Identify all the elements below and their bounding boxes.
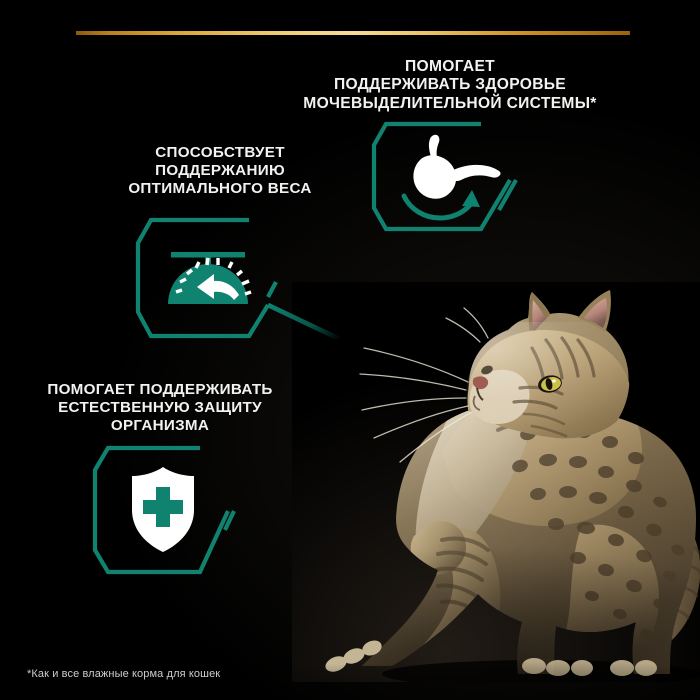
- bladder-urinary-icon: [404, 135, 501, 218]
- shield-cross-icon: [132, 467, 194, 552]
- weight-scale-gauge-icon: [168, 252, 251, 304]
- benefit-hex-urinary[interactable]: [374, 124, 516, 300]
- benefit-text-weight: СПОСОБСТВУЕТ ПОДДЕРЖАНИЮ ОПТИМАЛЬНОГО ВЕ…: [108, 144, 332, 198]
- footnote-text: *Как и все влажные корма для кошек: [27, 668, 220, 680]
- benefit-text-urinary: ПОМОГАЕТ ПОДДЕРЖИВАТЬ ЗДОРОВЬЕ МОЧЕВЫДЕЛ…: [282, 58, 618, 113]
- benefit-text-defense: ПОМОГАЕТ ПОДДЕРЖИВАТЬ ЕСТЕСТВЕННУЮ ЗАЩИТ…: [22, 381, 298, 435]
- benefit-hex-weight[interactable]: [138, 220, 350, 344]
- promo-banner: ПОМОГАЕТ ПОДДЕРЖИВАТЬ ЗДОРОВЬЕ МОЧЕВЫДЕЛ…: [0, 0, 700, 700]
- benefit-hex-defense[interactable]: [95, 448, 320, 572]
